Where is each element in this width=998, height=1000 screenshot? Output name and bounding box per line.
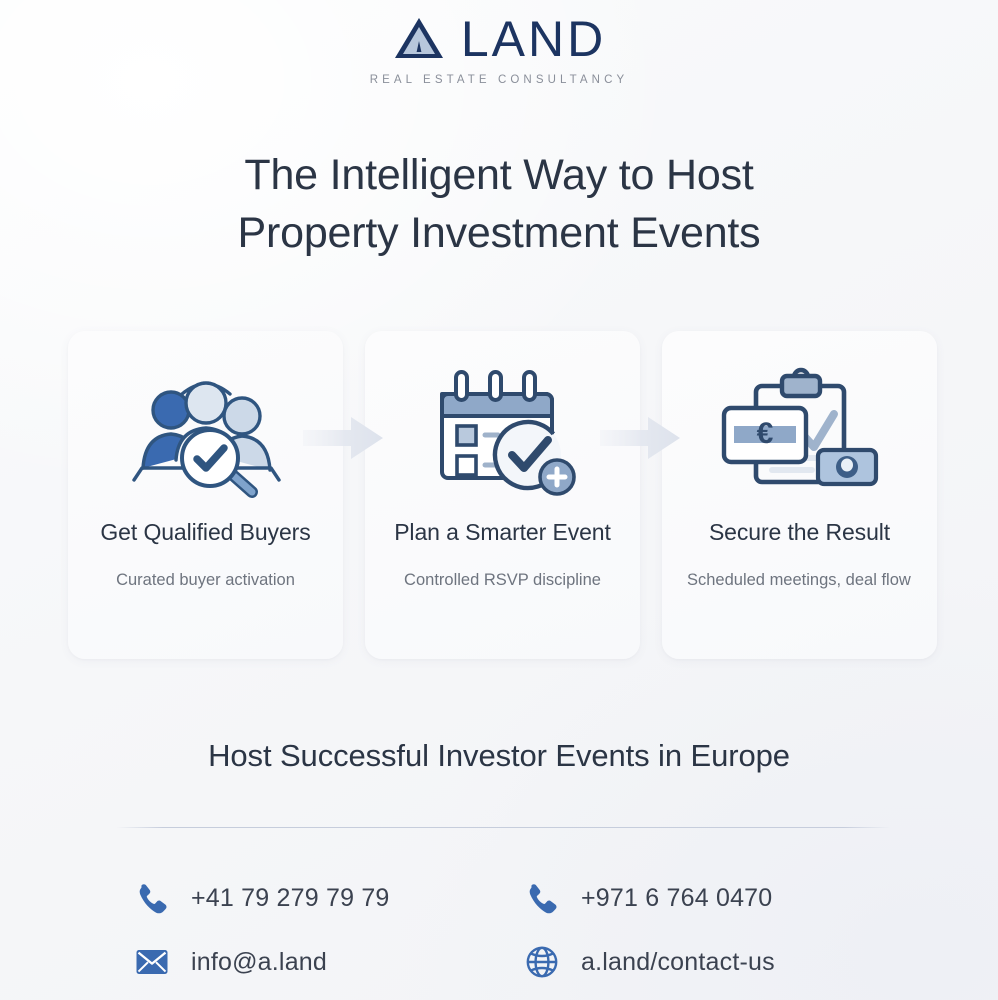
globe-icon	[523, 943, 561, 981]
contact-section: +41 79 279 79 79 +971 6 764 0470	[133, 866, 893, 994]
contact-website[interactable]: a.land/contact-us	[523, 943, 893, 981]
contact-value: info@a.land	[191, 948, 327, 977]
poster-root: LAND REAL ESTATE CONSULTANCY The Intelli…	[0, 0, 998, 1000]
divider	[116, 827, 890, 828]
contact-phone-ae[interactable]: +971 6 764 0470	[523, 879, 893, 917]
feature-card-secure-the-result[interactable]: € Secure the Result Scheduled meetings, …	[662, 331, 937, 659]
feature-card-title: Get Qualified Buyers	[68, 519, 343, 546]
contact-row: info@a.land a.land/contact-us	[133, 930, 893, 994]
logo-wordmark: LAND	[461, 14, 606, 67]
svg-text:€: €	[756, 417, 773, 450]
feature-card-subtitle: Controlled RSVP discipline	[365, 567, 640, 594]
logo-tagline: REAL ESTATE CONSULTANCY	[0, 74, 998, 86]
contact-phone-ch[interactable]: +41 79 279 79 79	[133, 879, 523, 917]
feature-card-list: Get Qualified Buyers Curated buyer activ…	[68, 331, 936, 659]
feature-card-title: Secure the Result	[662, 519, 937, 546]
contact-value: +971 6 764 0470	[581, 884, 772, 913]
triangle-a-logo-icon	[392, 15, 446, 66]
feature-card-get-qualified-buyers[interactable]: Get Qualified Buyers Curated buyer activ…	[68, 331, 343, 659]
envelope-icon	[133, 943, 171, 981]
arrow-right-icon	[303, 415, 383, 461]
feature-card-subtitle: Scheduled meetings, deal flow	[662, 567, 937, 594]
page-title: The Intelligent Way to Host Property Inv…	[0, 146, 998, 262]
arrow-right-icon	[600, 415, 680, 461]
phone-icon	[133, 879, 171, 917]
phone-icon	[523, 879, 561, 917]
logo-row: LAND	[0, 14, 998, 66]
headline-line-2: Property Investment Events	[0, 204, 998, 262]
contact-email[interactable]: info@a.land	[133, 943, 523, 981]
feature-card-subtitle: Curated buyer activation	[68, 567, 343, 594]
contact-row: +41 79 279 79 79 +971 6 764 0470	[133, 866, 893, 930]
people-group-magnifier-check-icon	[68, 359, 343, 509]
contact-value: a.land/contact-us	[581, 948, 775, 977]
feature-card-title: Plan a Smarter Event	[365, 519, 640, 546]
calendar-checkmark-plus-icon	[365, 359, 640, 509]
brand-logo: LAND REAL ESTATE CONSULTANCY	[0, 14, 998, 86]
section-title: Host Successful Investor Events in Europ…	[0, 738, 998, 774]
feature-card-plan-a-smarter-event[interactable]: Plan a Smarter Event Controlled RSVP dis…	[365, 331, 640, 659]
headline-line-1: The Intelligent Way to Host	[244, 151, 753, 199]
clipboard-euro-money-check-icon: €	[662, 359, 937, 509]
contact-value: +41 79 279 79 79	[191, 884, 390, 913]
